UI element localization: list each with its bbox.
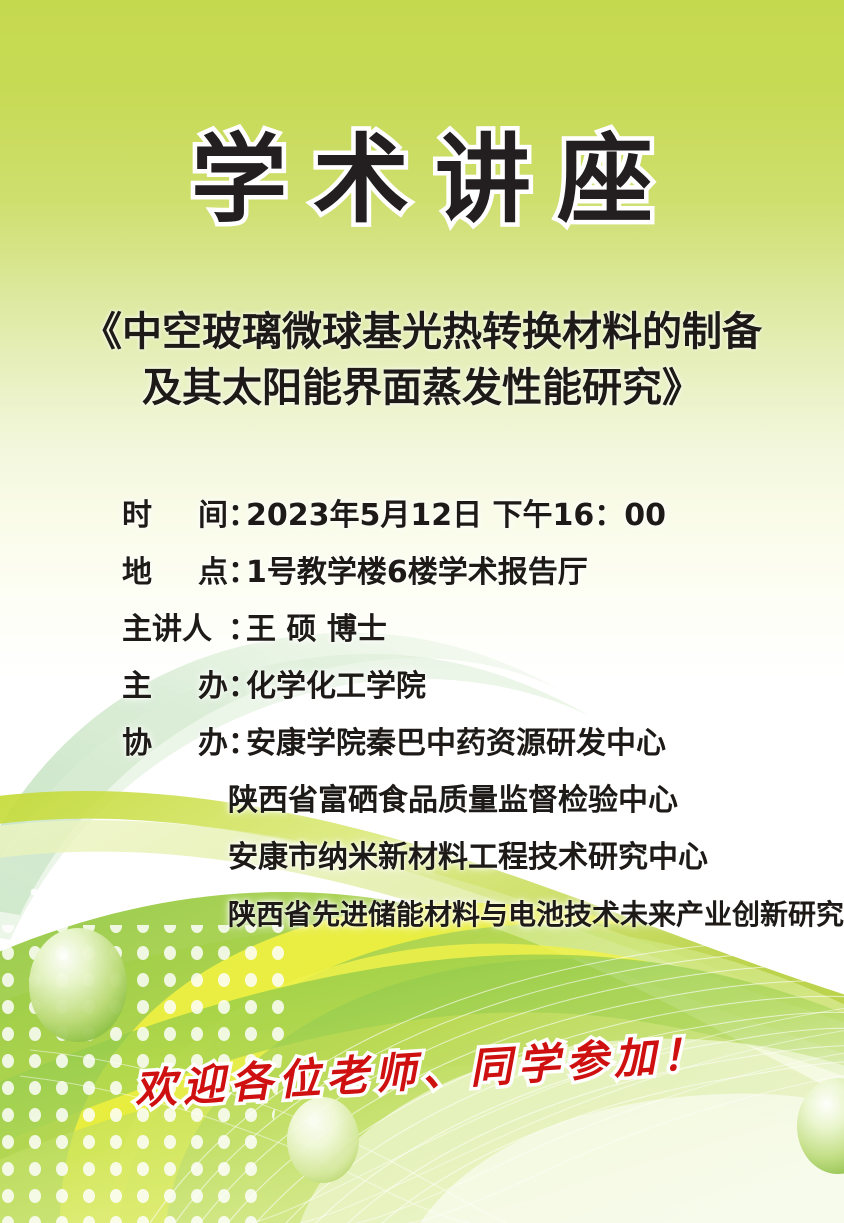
coorganizer-line-3: 安康市纳米新材料工程技术研究中心 — [122, 838, 822, 895]
info-row-speaker: 主讲人 ： 王 硕 博士 — [122, 610, 822, 667]
info-label-coorganizer: 协 办 — [122, 724, 228, 764]
coorganizer-line-4: 陕西省先进储能材料与电池技术未来产业创新研究院 — [122, 895, 822, 952]
info-label-organizer: 主 办 — [122, 667, 228, 707]
info-colon-location: ： — [228, 553, 246, 593]
subtitle-line-1: 《中空玻璃微球基光热转换材料的制备 — [40, 304, 804, 360]
info-colon-coorganizer: ： — [228, 724, 246, 764]
subtitle-line-2: 及其太阳能界面蒸发性能研究》 — [40, 360, 804, 416]
poster-canvas: 学术讲座 《中空玻璃微球基光热转换材料的制备 及其太阳能界面蒸发性能研究》 时 … — [0, 0, 844, 1223]
info-row-location: 地 点 ： 1号教学楼6楼学术报告厅 — [122, 553, 822, 610]
coorganizer-line-2: 陕西省富硒食品质量监督检验中心 — [122, 781, 822, 838]
info-row-organizer: 主 办 ： 化学化工学院 — [122, 667, 822, 724]
bubble-large-left — [29, 928, 127, 1042]
info-value-organizer: 化学化工学院 — [246, 667, 822, 707]
info-label-location: 地 点 — [122, 553, 228, 593]
lecture-subtitle: 《中空玻璃微球基光热转换材料的制备 及其太阳能界面蒸发性能研究》 — [40, 304, 804, 416]
info-value-speaker: 王 硕 博士 — [246, 610, 822, 650]
page-title: 学术讲座 — [0, 128, 844, 232]
info-value-time: 2023年5月12日 下午16：00 — [246, 496, 822, 536]
info-value-coorganizer: 安康学院秦巴中药资源研发中心 — [246, 724, 822, 764]
bubble-mid — [287, 1097, 359, 1183]
info-colon-organizer: ： — [228, 667, 246, 707]
info-colon-time: ： — [228, 496, 246, 536]
info-row-time: 时 间 ： 2023年5月12日 下午16：00 — [122, 496, 822, 553]
info-row-coorganizer: 协 办 ： 安康学院秦巴中药资源研发中心 — [122, 724, 822, 781]
info-label-speaker: 主讲人 — [122, 610, 228, 650]
info-colon-speaker: ： — [228, 610, 246, 650]
info-label-time: 时 间 — [122, 496, 228, 536]
info-value-location: 1号教学楼6楼学术报告厅 — [246, 553, 822, 593]
info-block: 时 间 ： 2023年5月12日 下午16：00 地 点 ： 1号教学楼6楼学术… — [122, 496, 822, 952]
